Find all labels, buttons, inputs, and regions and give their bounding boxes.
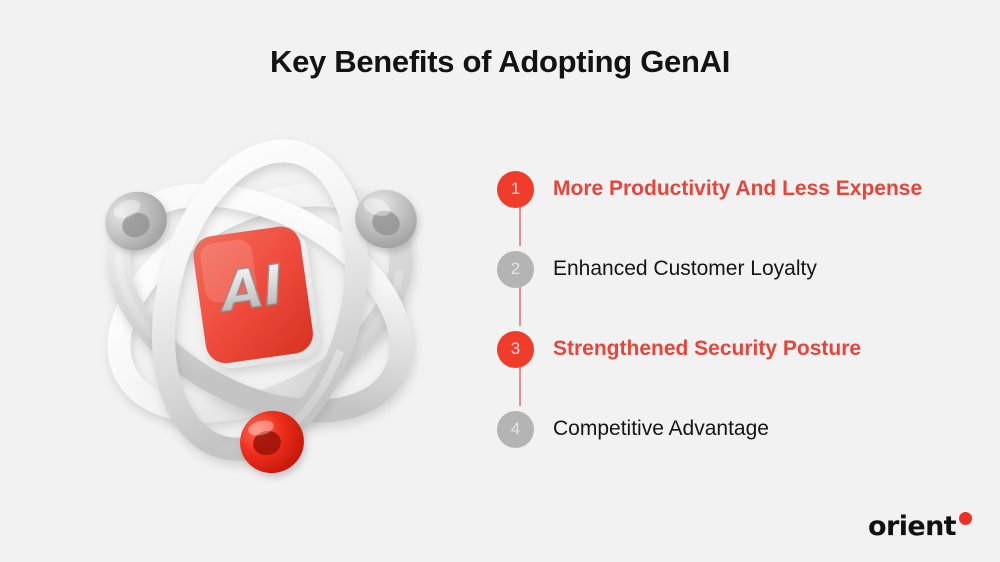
- benefit-item-3[interactable]: 3 Strengthened Security Posture: [497, 326, 967, 372]
- benefit-item-1[interactable]: 1 More Productivity And Less Expense: [497, 166, 967, 212]
- timeline-connector: [519, 366, 521, 406]
- slide-canvas: Key Benefits of Adopting GenAI: [0, 0, 1000, 562]
- benefit-label: Strengthened Security Posture: [553, 336, 861, 362]
- benefit-label: Enhanced Customer Loyalty: [553, 256, 817, 282]
- benefit-label: Competitive Advantage: [553, 416, 769, 442]
- benefits-list: 1 More Productivity And Less Expense 2 E…: [497, 166, 967, 466]
- page-title: Key Benefits of Adopting GenAI: [0, 42, 1000, 82]
- brand-logo[interactable]: orient: [868, 513, 972, 540]
- benefit-item-2[interactable]: 2 Enhanced Customer Loyalty: [497, 246, 967, 292]
- atom-illustration: AI: [55, 95, 465, 505]
- circle-dot-icon: [959, 512, 972, 525]
- timeline-connector: [519, 286, 521, 326]
- benefit-number-badge: 2: [497, 251, 534, 288]
- benefit-item-4[interactable]: 4 Competitive Advantage: [497, 406, 967, 452]
- benefit-number-badge: 4: [497, 411, 534, 448]
- timeline-connector: [519, 206, 521, 246]
- benefit-label: More Productivity And Less Expense: [553, 176, 922, 202]
- ai-chip: AI: [191, 223, 323, 372]
- brand-wordmark: orient: [868, 513, 956, 540]
- ai-chip-label: AI: [213, 253, 287, 325]
- benefit-number-badge: 1: [497, 171, 534, 208]
- benefit-number-badge: 3: [497, 331, 534, 368]
